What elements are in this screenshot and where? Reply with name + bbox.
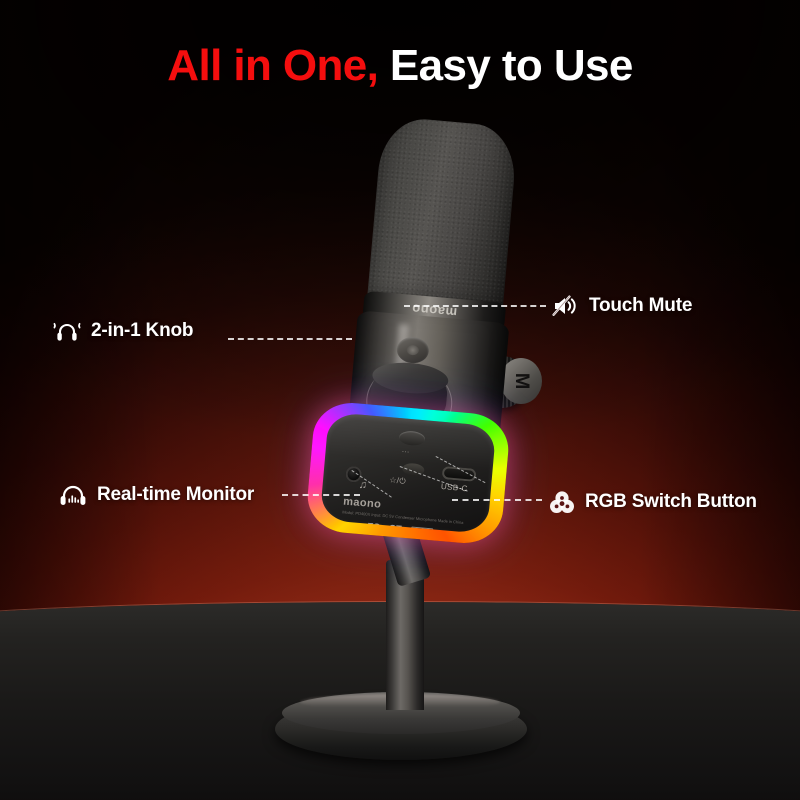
rgb-circles-icon — [548, 489, 576, 515]
headphones-equalizer-icon — [58, 482, 88, 508]
mute-button-label: ··· — [402, 448, 410, 456]
plate-brand-name: maono — [343, 495, 382, 510]
callout-label-touch-mute: Touch Mute — [589, 295, 692, 317]
leader-line-touch-mute — [404, 305, 546, 307]
callout-touch-mute: Touch Mute — [552, 294, 692, 318]
leader-line-two-in-one-knob — [228, 338, 352, 340]
leader-line-rgb-switch — [452, 499, 542, 501]
callout-label-rgb-switch-button: RGB Switch Button — [585, 491, 757, 513]
rgb-base-unit: ♫ ··· ☆/⏻ USB-C maono Model: PD400X Inpu… — [305, 400, 512, 547]
callout-label-real-time-monitor: Real-time Monitor — [97, 484, 254, 506]
leader-line-real-time-monitor — [282, 494, 360, 496]
foam-texture — [367, 116, 519, 317]
callout-real-time-monitor: Real-time Monitor — [58, 482, 254, 508]
product-feature-image: All in One, Easy to Use M maono — [0, 0, 800, 800]
maono-m-logo: M — [510, 373, 532, 390]
foam-windscreen — [367, 116, 519, 317]
rgb-button-label: ☆/⏻ — [389, 475, 406, 486]
speaker-mute-icon — [552, 294, 580, 318]
headphones-waves-icon — [52, 318, 82, 344]
microphone-product-illustration: M maono ♫ ··· — [0, 0, 800, 800]
callout-two-in-one-knob: 2-in-1 Knob — [52, 318, 193, 344]
callout-rgb-switch-button: RGB Switch Button — [548, 489, 757, 515]
callout-label-two-in-one-knob: 2-in-1 Knob — [91, 320, 193, 342]
bottom-control-plate: ♫ ··· ☆/⏻ USB-C maono Model: PD400X Inpu… — [320, 412, 497, 534]
